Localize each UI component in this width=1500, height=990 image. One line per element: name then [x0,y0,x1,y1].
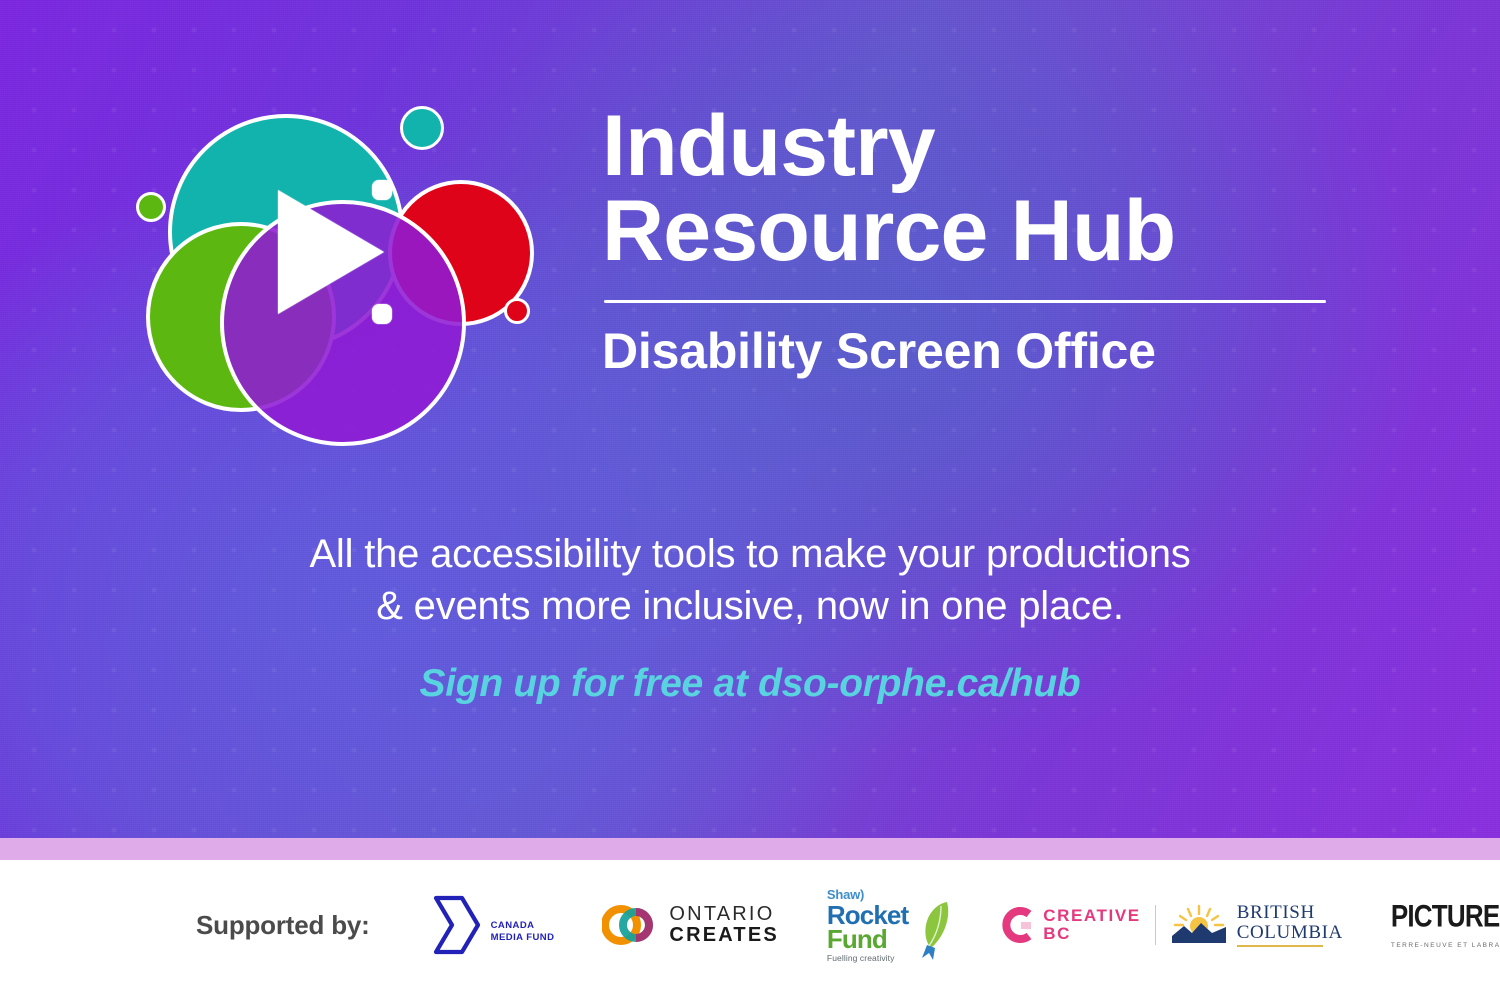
page-subtitle: Disability Screen Office [602,325,1500,378]
play-triangle-icon [278,190,384,314]
shaw-wordmark: Shaw) [827,888,908,901]
small-teal-circle-icon [400,106,444,150]
brand-row: Industry Resource Hub Disability Screen … [0,96,1500,476]
shaw-rocket-fund-text: Shaw) Rocket Fund Fuelling creativity [827,888,908,963]
canada-media-fund-mark-icon [432,894,484,956]
shaw-rocket-fund-tagline: Fuelling creativity [827,954,908,963]
tagline-line1: All the accessibility tools to make your… [309,532,1190,576]
british-columbia-text: BRITISH COLUMBIA [1237,903,1343,947]
picture-nl-wordmark: PICTURE NL [1391,902,1500,936]
rocket-icon [911,900,953,962]
promotional-poster: Industry Resource Hub Disability Screen … [0,0,1500,990]
logo-separator [1155,905,1156,945]
sponsor-logo-canada-media-fund[interactable]: CANADA MEDIA FUND [432,894,555,956]
tagline: All the accessibility tools to make your… [0,528,1500,632]
canada-media-fund-text: CANADA MEDIA FUND [491,906,555,943]
sponsor-logo-british-columbia[interactable]: BRITISH COLUMBIA [1170,903,1343,947]
sponsor-logo-shaw-rocket-fund[interactable]: Shaw) Rocket Fund Fuelling creativity [827,888,953,963]
hero-section: Industry Resource Hub Disability Screen … [0,0,1500,838]
cmf-line2: MEDIA FUND [491,932,555,944]
sponsor-logo-creative-bc[interactable]: CREATIVE BC [1001,905,1141,945]
fund-wordmark: Fund [827,927,908,951]
sponsors-footer: Supported by: CANADA MEDIA FUND [0,860,1500,990]
sponsor-logo-creative-bc-group[interactable]: CREATIVE BC [1001,903,1343,947]
creative-bc-mark-icon [1001,905,1035,945]
sponsor-logo-ontario-creates[interactable]: ONTARIO CREATES [602,901,778,949]
sponsor-logo-picture-nl[interactable]: PICTURE NL TERRE-NEUVE ET LABRADOR [1391,902,1500,949]
ontario-creates-line2: CREATES [669,925,778,946]
tagline-line2: & events more inclusive, now in one plac… [0,580,1500,632]
supported-by-label: Supported by: [196,910,370,941]
page-title-line2: Resource Hub [602,189,1500,274]
creative-bc-text: CREATIVE BC [1043,907,1141,942]
creative-bc-line2: BC [1043,925,1141,943]
picture-nl-tagline: TERRE-NEUVE ET LABRADOR [1391,942,1500,949]
british-columbia-line2: COLUMBIA [1237,923,1343,942]
british-columbia-mark-icon [1170,903,1228,947]
british-columbia-line1: BRITISH [1237,903,1343,922]
play-button-circles-logo [132,96,552,476]
small-green-circle-icon [136,192,166,222]
picture-nl-part1: PICTURE [1391,897,1500,935]
title-divider-rule [604,300,1326,303]
pink-divider-band [0,838,1500,860]
page-title-line1: Industry [602,104,1500,189]
british-columbia-rule [1237,945,1323,947]
ontario-creates-line1: ONTARIO [669,904,778,925]
ontario-creates-text: ONTARIO CREATES [669,904,778,946]
cmf-line1: CANADA [491,920,555,932]
signup-cta-link[interactable]: Sign up for free at dso-orphe.ca/hub [0,662,1500,706]
small-red-circle-icon [504,298,530,324]
creative-bc-line1: CREATIVE [1043,907,1141,925]
ontario-creates-mark-icon [602,901,658,949]
title-block: Industry Resource Hub Disability Screen … [602,96,1500,378]
sponsor-logos-row: CANADA MEDIA FUND ONTARIO CREATES [432,888,1500,963]
